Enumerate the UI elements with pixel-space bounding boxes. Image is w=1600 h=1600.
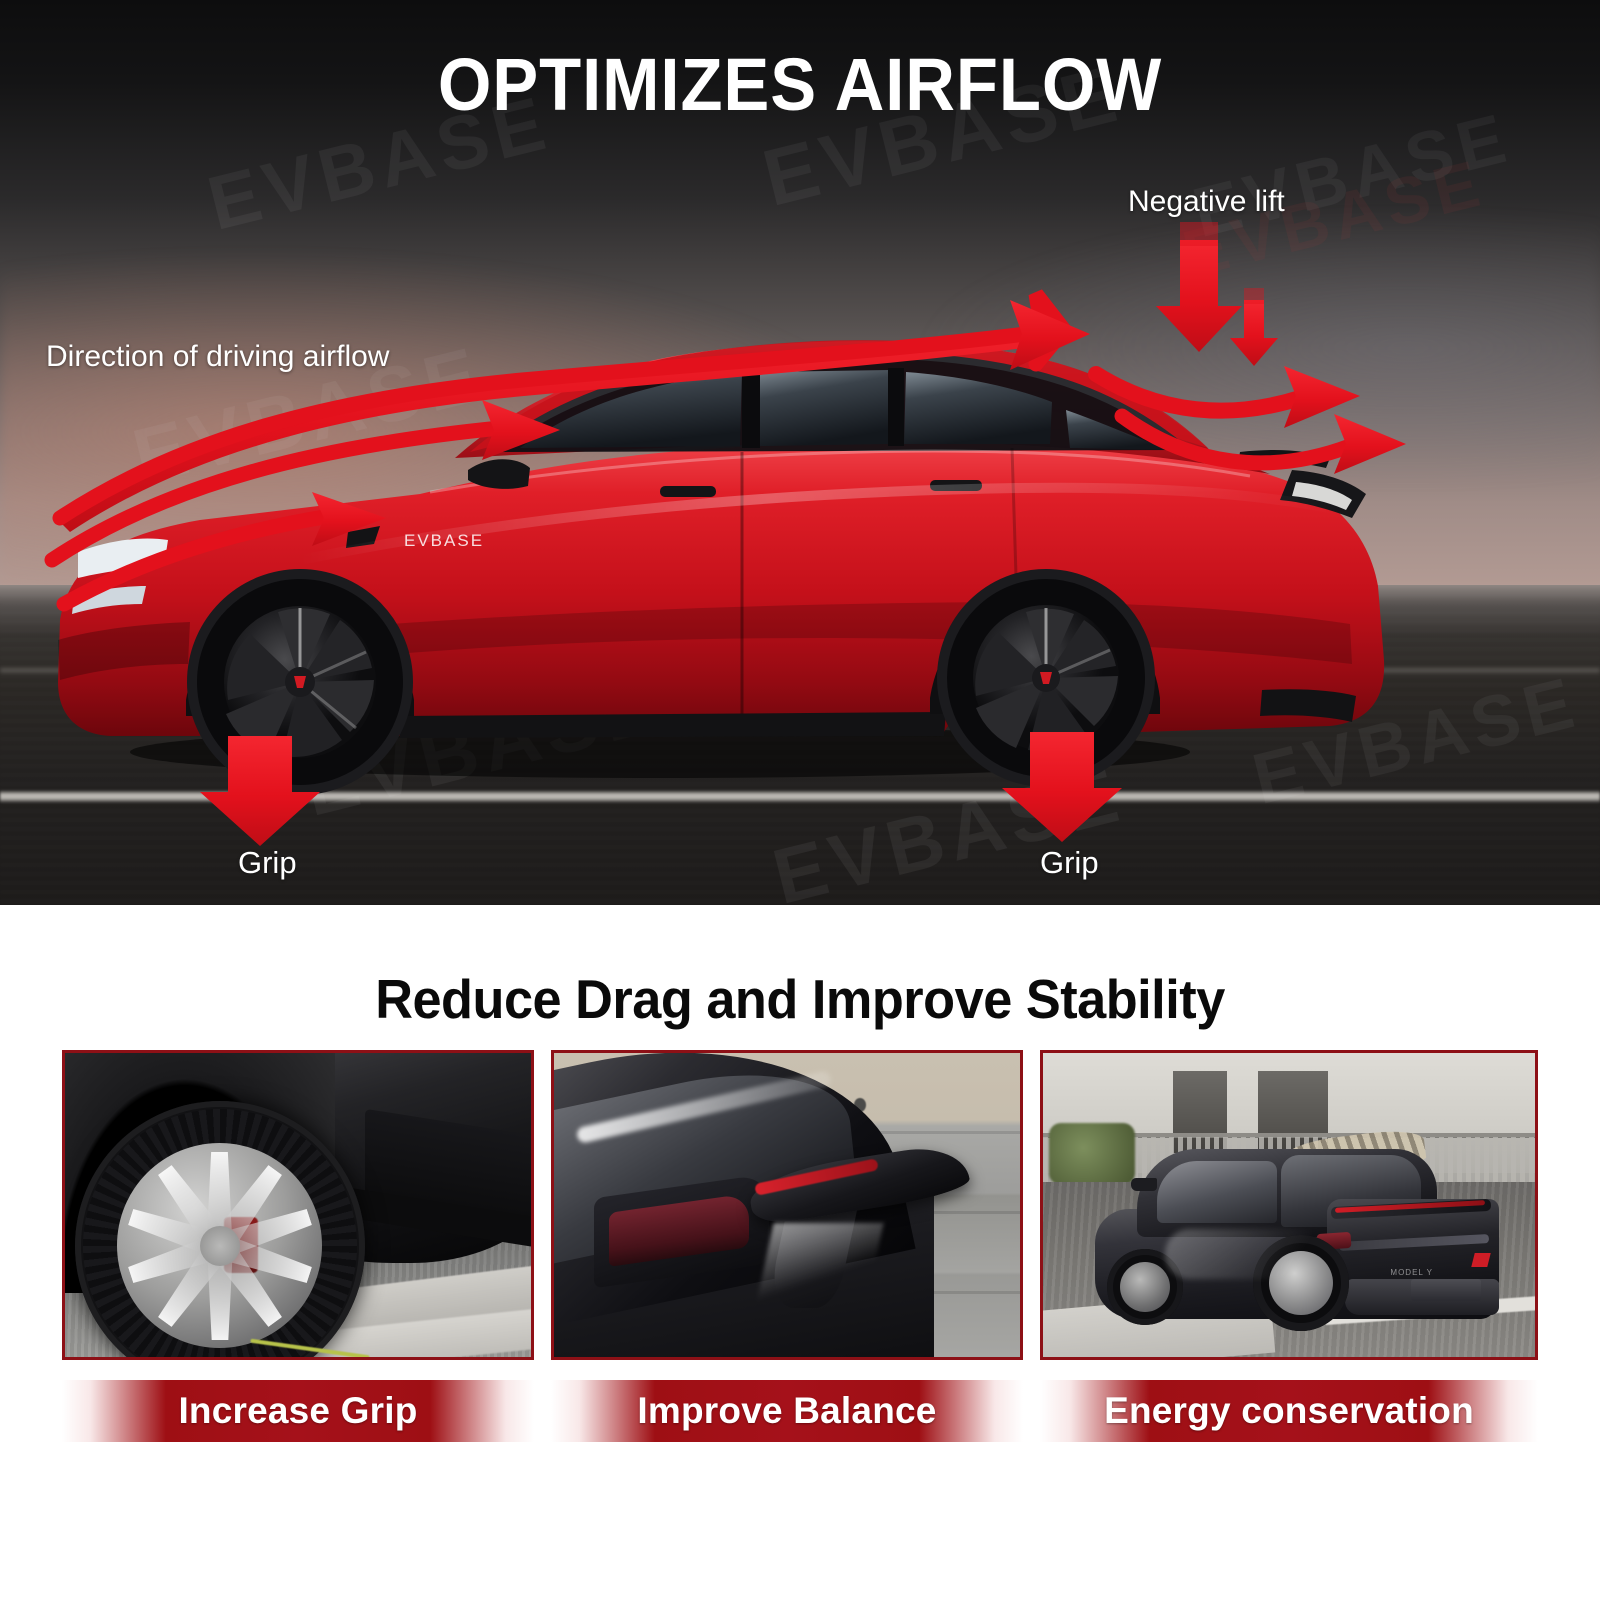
photo3-paint-gloss	[1165, 1229, 1355, 1279]
photo1-hub-cap	[200, 1226, 240, 1266]
caption-text: Energy conservation	[1104, 1390, 1474, 1432]
photo3-license-plate	[1411, 1279, 1481, 1301]
infographic-page: EVBASE EVBASE EVBASE EVBASE EVBASE EVBAS…	[0, 0, 1600, 1600]
benefit-card-energy-conservation[interactable]: MODEL Y Energy conservation	[1040, 1050, 1538, 1442]
benefits-panel: Reduce Drag and Improve Stability	[0, 905, 1600, 1600]
caption-text: Improve Balance	[637, 1390, 936, 1432]
hero-airflow-panel: EVBASE EVBASE EVBASE EVBASE EVBASE EVBAS…	[0, 0, 1600, 905]
benefit-card-row: Increase Grip	[0, 1050, 1600, 1520]
front-wheel	[192, 574, 408, 790]
label-grip-rear: Grip	[1040, 845, 1099, 881]
photo1-wheel-cover	[117, 1143, 322, 1348]
photo3-model-y-badge: MODEL Y	[1390, 1268, 1433, 1277]
section-title: Reduce Drag and Improve Stability	[40, 967, 1560, 1031]
benefit-card-improve-balance[interactable]: Improve Balance	[551, 1050, 1023, 1442]
label-grip-front: Grip	[238, 845, 297, 881]
caption-text: Increase Grip	[178, 1390, 417, 1432]
photo3-side-mirror	[1131, 1178, 1157, 1191]
photo-model-y-rear: MODEL Y	[1040, 1050, 1538, 1360]
photo-wheel-closeup	[62, 1050, 534, 1360]
label-airflow-direction: Direction of driving airflow	[46, 340, 389, 374]
car-airflow-illustration: EVBASE	[0, 0, 1600, 905]
photo2-paint-gloss	[754, 1223, 883, 1313]
caption-band-increase-grip: Increase Grip	[62, 1380, 534, 1442]
page-title: OPTIMIZES AIRFLOW	[56, 42, 1544, 127]
photo-spoiler-closeup	[551, 1050, 1023, 1360]
caption-band-improve-balance: Improve Balance	[551, 1380, 1023, 1442]
photo3-side-window-front	[1157, 1161, 1277, 1223]
caption-band-energy-conservation: Energy conservation	[1040, 1380, 1538, 1442]
photo3-tesla-model-y: MODEL Y	[1095, 1119, 1495, 1319]
benefit-card-increase-grip[interactable]: Increase Grip	[62, 1050, 534, 1442]
label-negative-lift: Negative lift	[1128, 185, 1285, 219]
